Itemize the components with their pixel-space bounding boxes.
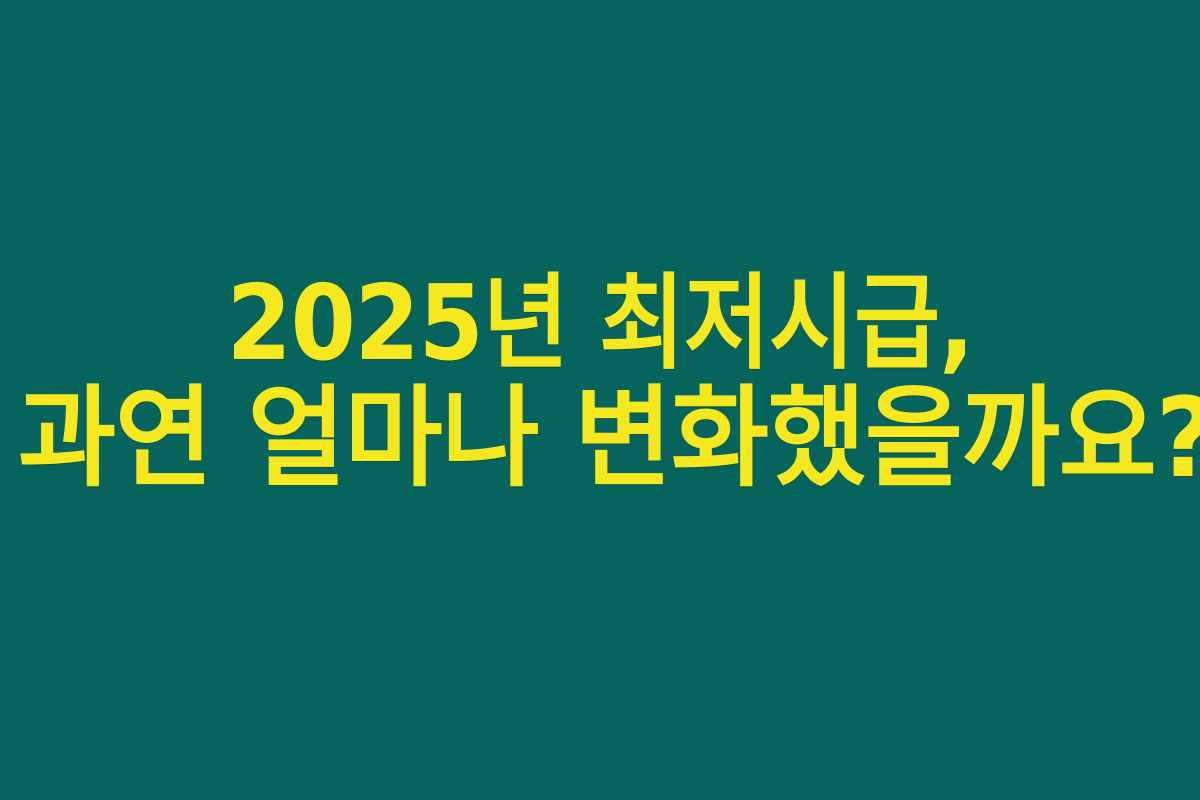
headline-line-1: 2025년 최저시급, xyxy=(60,271,1140,375)
headline-block: 2025년 최저시급, 과연 얼마나 변화했을까요? xyxy=(0,271,1200,493)
poster-canvas: 2025년 최저시급, 과연 얼마나 변화했을까요? xyxy=(0,0,1200,800)
headline-line-2: 과연 얼마나 변화했을까요? xyxy=(18,383,1182,493)
